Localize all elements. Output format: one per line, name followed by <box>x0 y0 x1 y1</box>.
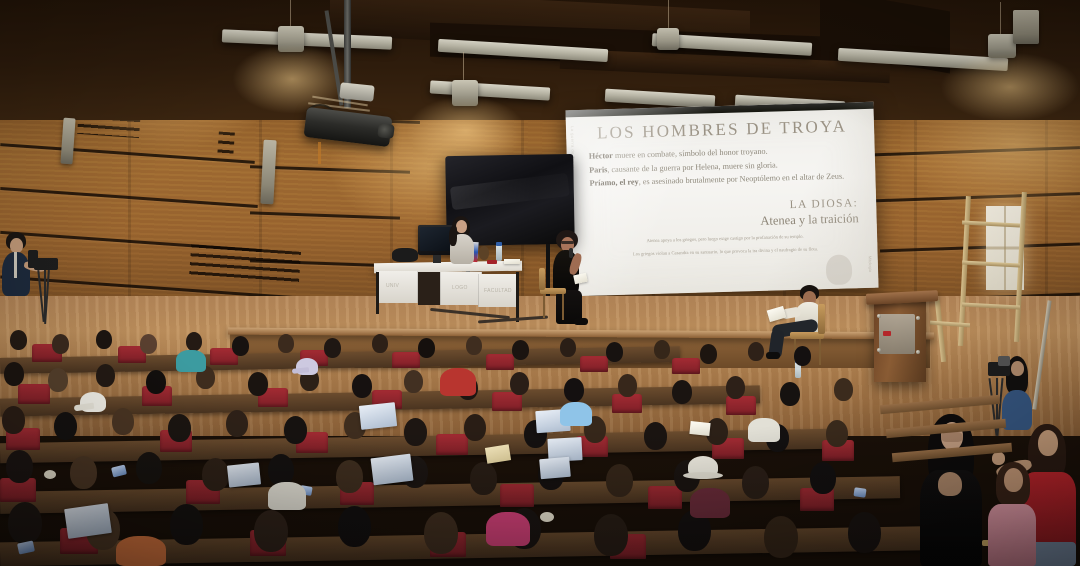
auditorium-seat[interactable] <box>18 384 50 404</box>
slide-content: La guerra de Troya LOS HOMBRES DE TROYA … <box>565 102 878 297</box>
projection-screen: La guerra de Troya LOS HOMBRES DE TROYA … <box>565 102 878 297</box>
audience-head <box>136 452 162 484</box>
slide-bullet-lead: Príamo, el rey <box>589 178 638 188</box>
chair-leg <box>543 294 545 318</box>
audience-head <box>742 466 769 499</box>
audience-head <box>848 512 881 553</box>
lectern-bolt <box>916 350 920 354</box>
slide-bullet-lead: Héctor <box>589 151 613 161</box>
slide-bullet-rest: muere en combate, símbolo del honor troy… <box>613 147 768 160</box>
audience-head <box>654 340 670 359</box>
audience-notebook <box>485 444 511 464</box>
auditorium-seat[interactable] <box>580 356 608 372</box>
desk-ornament <box>479 246 489 260</box>
audience-torso <box>116 536 166 566</box>
audience-head <box>748 342 764 361</box>
pendant-glow <box>940 52 1080 122</box>
audience-torso <box>440 368 476 396</box>
hair-bow <box>44 470 56 479</box>
slide-fine-print-line-2: Los griegos violan a Casandra en su sant… <box>591 245 859 259</box>
audience-head <box>726 376 745 399</box>
moderator-head <box>456 220 467 233</box>
slide-decorative-shape <box>826 254 853 285</box>
hanging-cable <box>318 142 321 164</box>
audience-head <box>6 450 33 483</box>
audience-head <box>352 374 372 398</box>
audience-head <box>96 364 115 387</box>
audience-head <box>700 344 717 364</box>
pendant-wire <box>668 0 669 28</box>
video-camera-left <box>34 258 58 270</box>
table-leg <box>516 272 519 322</box>
audience-torso <box>176 350 206 372</box>
auditorium-scene: La guerra de Troya LOS HOMBRES DE TROYA … <box>0 0 1080 566</box>
audience-head <box>512 340 529 360</box>
audience-head <box>8 502 42 544</box>
audience-head <box>418 338 435 358</box>
video-camera-right <box>998 356 1010 366</box>
audience-torso <box>690 488 730 518</box>
audience-head <box>140 334 157 354</box>
audience-laptop[interactable] <box>359 402 397 430</box>
camera-operator-right-torso <box>1002 390 1032 430</box>
audience-head <box>510 372 529 395</box>
woman-in-red-hand <box>992 452 1005 465</box>
hair-bow <box>540 512 554 522</box>
audience-head <box>70 456 97 489</box>
woman-in-black-face-shadow <box>941 432 963 442</box>
auditorium-seat[interactable] <box>648 486 682 509</box>
audience-head <box>424 512 458 554</box>
audience-head <box>278 334 294 353</box>
audience-laptop[interactable] <box>539 457 571 480</box>
audience-head <box>146 370 166 394</box>
panelist-chair-back <box>818 304 825 334</box>
red-item-on-table <box>487 260 497 264</box>
lectern-bolt <box>877 314 881 318</box>
audience-head <box>10 330 27 350</box>
audience-head <box>248 372 268 396</box>
auditorium-seat[interactable] <box>486 354 514 370</box>
lanyard <box>14 252 17 278</box>
slide-bullet-rest: , causante de la guerra por Helena, muer… <box>607 160 778 174</box>
slide-bullet-lead: Paris <box>589 165 607 175</box>
audience-head <box>564 378 584 402</box>
audience-head <box>226 410 248 437</box>
audience-head <box>336 460 363 493</box>
audience-phone[interactable] <box>111 464 127 477</box>
pendant-wire <box>290 0 291 26</box>
audience-head <box>232 336 249 356</box>
table-gap <box>418 272 440 305</box>
speaker-glasses <box>561 241 574 244</box>
projector-accessory-box <box>339 82 374 101</box>
audience-head <box>324 338 341 358</box>
speaker-shoe <box>574 318 588 325</box>
lectern-emblem <box>883 331 891 336</box>
bag-on-table <box>392 248 418 262</box>
projector-lens <box>377 123 395 139</box>
auditorium-seat[interactable] <box>500 484 534 507</box>
audience-head <box>672 380 692 404</box>
audience-laptop[interactable] <box>227 462 261 487</box>
microphone <box>569 248 573 258</box>
monitor-stand-small <box>433 255 441 263</box>
chair-leg <box>562 294 564 320</box>
slide-side-note-right: Mitología <box>868 256 873 272</box>
audience-head <box>560 338 576 357</box>
audience-head <box>618 374 637 397</box>
audience-head <box>606 342 623 362</box>
hat-brim <box>683 472 723 479</box>
audience-head <box>466 336 482 355</box>
auditorium-seat[interactable] <box>726 396 756 415</box>
pendant-lamp <box>657 28 679 50</box>
camera-operator-left-head <box>10 238 23 253</box>
audience-head <box>112 408 134 435</box>
monitor-glare <box>450 173 570 211</box>
audience-head <box>404 370 423 393</box>
audience-head <box>54 412 77 440</box>
audience-head <box>96 330 112 349</box>
audience-head <box>594 514 628 556</box>
audience-head <box>372 334 388 353</box>
bottle-cap <box>496 242 502 246</box>
audience-head <box>794 346 811 366</box>
audience-head <box>338 506 371 547</box>
auditorium-seat[interactable] <box>392 352 420 368</box>
audience-head <box>202 458 229 491</box>
water-bottle <box>496 245 502 261</box>
audience-head <box>464 414 486 441</box>
audience-head <box>186 332 202 351</box>
slide-title: LOS HOMBRES DE TROYA <box>588 116 856 143</box>
audience-laptop[interactable] <box>64 503 112 539</box>
woman-in-red-head <box>1038 430 1058 456</box>
camera-operator-right-head <box>1011 361 1024 376</box>
person-in-pink-torso <box>988 504 1036 566</box>
lectern-bolt <box>916 316 920 320</box>
table-label-mid: LOGO <box>452 285 468 291</box>
auditorium-seat[interactable] <box>436 434 468 455</box>
woman-in-black-chest <box>938 472 962 496</box>
table-label-right: FACULTAD <box>484 288 512 294</box>
audience-torso <box>486 512 530 546</box>
table-leg <box>376 272 379 314</box>
audience-head <box>644 422 667 450</box>
audience-head <box>826 420 848 447</box>
chair-leg <box>819 339 821 365</box>
audience-head <box>4 362 24 386</box>
audience-head <box>470 462 497 495</box>
papers-on-table <box>504 259 520 264</box>
audience-notebook <box>689 421 710 436</box>
auditorium-seat[interactable] <box>672 358 700 374</box>
lectern-bolt <box>877 348 881 352</box>
audience-laptop[interactable] <box>371 454 414 486</box>
audience-phone[interactable] <box>853 487 866 498</box>
slide-fine-print-line-1: Atenea apoya a los griegos, pero luego e… <box>591 232 859 246</box>
pendant-wire <box>1000 2 1001 34</box>
audience-head <box>254 510 288 552</box>
speaker-chair-back <box>539 268 545 290</box>
audience-torso <box>748 418 780 442</box>
wall-speaker <box>1013 10 1039 44</box>
audience-head <box>810 462 836 494</box>
audience-head <box>284 416 307 444</box>
audience-head <box>168 414 191 442</box>
pendant-wire <box>463 52 464 80</box>
wall-vent <box>217 131 235 158</box>
audience-head <box>780 382 800 406</box>
audience-head <box>2 406 25 434</box>
audience-head <box>48 368 68 392</box>
audience-head <box>606 464 633 497</box>
audience-head <box>404 418 427 446</box>
audience-torso <box>268 482 306 510</box>
tripod-leg <box>44 270 46 320</box>
audience-head <box>52 334 69 354</box>
audience-head <box>170 504 203 545</box>
audience-torso <box>560 402 592 426</box>
table-label-left: UNIV <box>386 283 399 289</box>
audience-head <box>764 516 798 558</box>
moderator-hair-side <box>449 226 457 246</box>
audience-head <box>834 378 853 401</box>
person-in-pink-head <box>1004 468 1023 492</box>
panelist-shoe <box>766 352 780 359</box>
